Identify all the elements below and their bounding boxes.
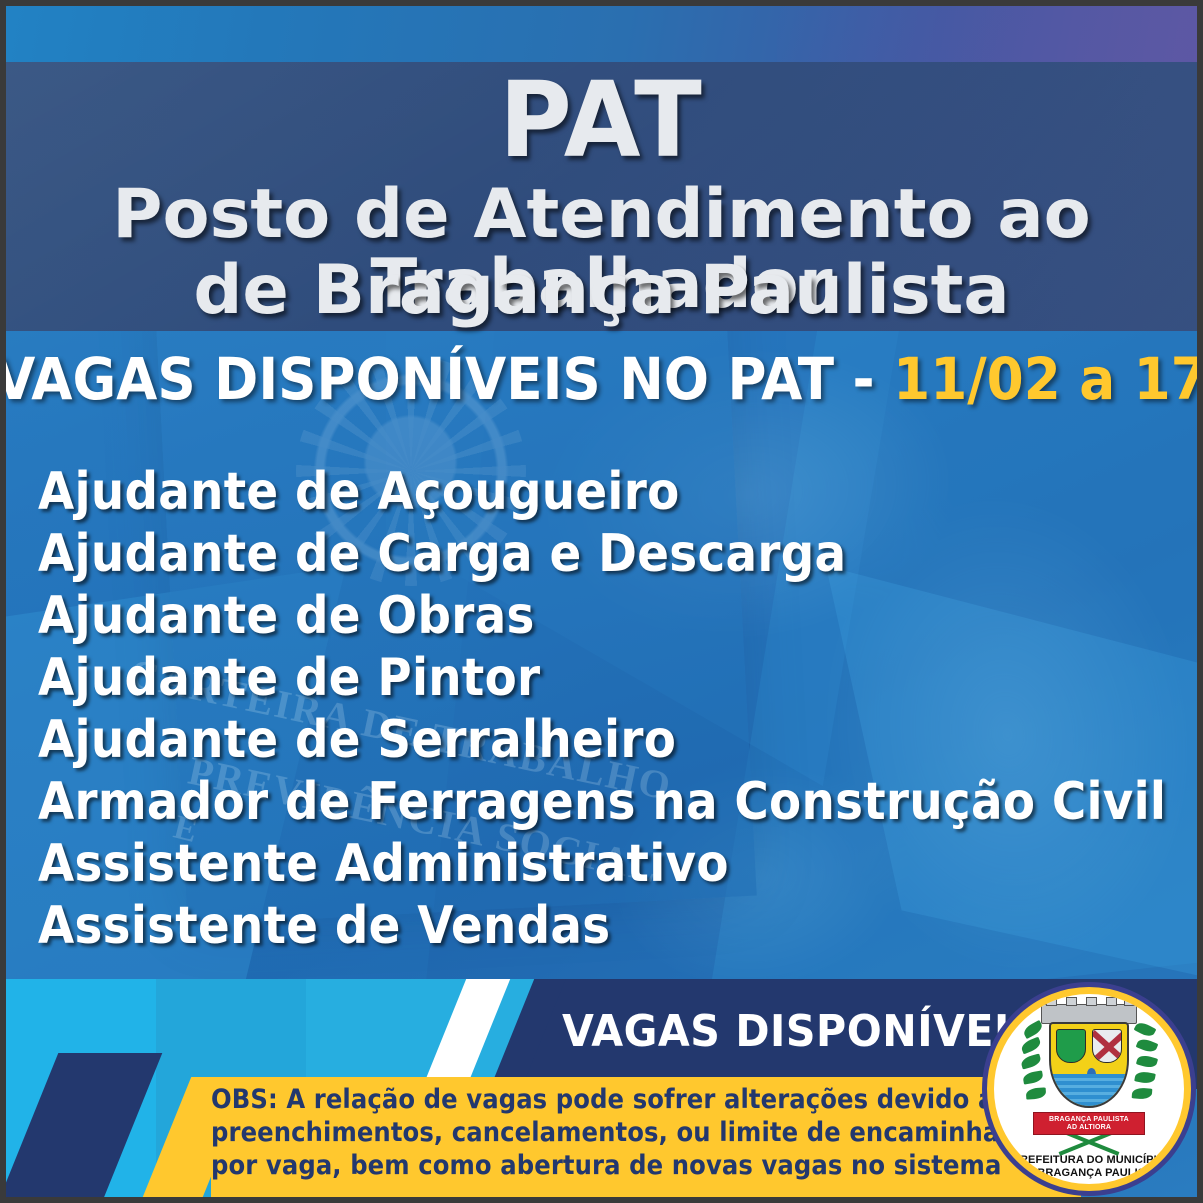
date-band: VAGAS DISPONÍVEIS NO PAT - 11/02 a 17/02 (6, 342, 1197, 416)
list-item: Armador de Ferragens na Construção Civil (38, 771, 1138, 833)
poster-canvas: CARTEIRA DE TRABALHO E PREVIDÊNCIA SOCIA… (6, 6, 1197, 1197)
mural-crown-icon (1041, 1004, 1137, 1024)
ribbon-line-2: AD ALTIORA (1067, 1124, 1111, 1132)
motto-ribbon: BRAGANÇA PAULISTA AD ALTIORA (1033, 1112, 1145, 1135)
laurel-branch-left-icon (1021, 1020, 1051, 1116)
badge-caption-line-1: PREFEITURA DO MUNICÍPIO (1013, 1154, 1166, 1167)
list-item: Ajudante de Carga e Descarga (38, 523, 1138, 585)
list-item: Assistente de Vendas (38, 895, 1138, 957)
list-item: Ajudante de Açougueiro (38, 461, 1138, 523)
shield-icon (1049, 1022, 1129, 1108)
list-item: Ajudante de Obras (38, 585, 1138, 647)
page-title-acronym: PAT (6, 68, 1197, 172)
job-list: Ajudante de Açougueiro Ajudante de Carga… (38, 461, 1138, 957)
date-band-label: VAGAS DISPONÍVEIS NO PAT - (6, 345, 893, 413)
list-item: Ajudante de Pintor (38, 647, 1138, 709)
footer-region: VAGAS DISPONÍVEIS OBS: A relação de vaga… (6, 979, 1197, 1197)
coat-of-arms-icon: BRAGANÇA PAULISTA AD ALTIORA (1019, 1002, 1159, 1152)
shield-quarter-cross (1092, 1029, 1122, 1063)
date-band-period: 11/02 a 17/02 (893, 345, 1197, 413)
list-item: Ajudante de Serralheiro (38, 709, 1138, 771)
laurel-branch-right-icon (1127, 1020, 1157, 1116)
ribbon-line-1: BRAGANÇA PAULISTA (1049, 1116, 1129, 1124)
city-seal-badge: BRAGANÇA PAULISTA AD ALTIORA PREFEITURA … (987, 987, 1191, 1191)
observation-line-2: preenchimentos, cancelamentos, ou limite… (211, 1116, 1041, 1149)
footer-banner-label: VAGAS DISPONÍVEIS (577, 985, 1024, 1077)
shield-quarter-green (1056, 1029, 1086, 1063)
observation-text: OBS: A relação de vagas pode sofrer alte… (211, 1083, 1041, 1182)
page-title-line-2: de Bragança Paulista (6, 256, 1197, 326)
observation-line-3: por vaga, bem como abertura de novas vag… (211, 1149, 1041, 1182)
shield-water-base (1051, 1074, 1127, 1106)
top-color-strip (6, 6, 1197, 62)
observation-line-1: OBS: A relação de vagas pode sofrer alte… (211, 1083, 1041, 1116)
badge-caption: PREFEITURA DO MUNICÍPIO DE BRAGANÇA PAUL… (1013, 1154, 1166, 1180)
list-item: Assistente Administrativo (38, 833, 1138, 895)
